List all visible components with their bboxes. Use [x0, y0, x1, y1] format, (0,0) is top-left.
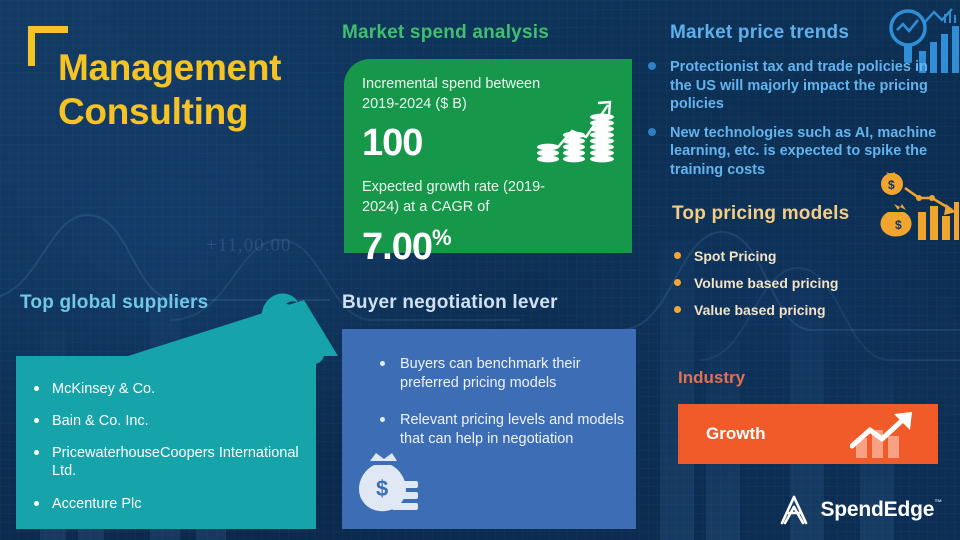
bullet-dot: [674, 252, 681, 259]
suppliers-panel: McKinsey & Co. Bain & Co. Inc. Pricewate…: [16, 356, 316, 529]
supplier-name: Bain & Co. Inc.: [52, 413, 149, 429]
supplier-name: PricewaterhouseCoopers International Ltd…: [52, 445, 299, 479]
cagr-value: 7.00: [362, 226, 432, 268]
bullet-dot: [34, 386, 39, 391]
svg-text:$: $: [895, 218, 902, 232]
list-item: Relevant pricing levels and models that …: [342, 411, 636, 449]
negotiation-panel: Buyers can benchmark their preferred pri…: [342, 329, 636, 529]
bullet-dot: [380, 417, 385, 422]
negotiation-heading: Buyer negotiation lever: [342, 292, 558, 314]
bullet-dot: [34, 501, 39, 506]
infographic-canvas: +11,00.00 Management Consulting Market s…: [0, 0, 960, 540]
money-bag-icon: $: [352, 451, 424, 523]
bullet-dot: [380, 361, 385, 366]
logo-trademark: ™: [934, 498, 942, 507]
spendedge-chevron-icon: [777, 494, 811, 526]
negotiation-text: Relevant pricing levels and models that …: [400, 412, 624, 447]
list-item: Value based pricing: [672, 302, 932, 318]
list-item: Volume based pricing: [672, 275, 932, 291]
page-title-line-2: Consulting: [58, 90, 358, 134]
svg-text:$: $: [376, 476, 388, 501]
industry-status-badge: Growth: [678, 404, 938, 464]
suppliers-list: McKinsey & Co. Bain & Co. Inc. Pricewate…: [16, 356, 316, 513]
bullet-dot: [674, 279, 681, 286]
list-item: PricewaterhouseCoopers International Ltd…: [16, 444, 316, 480]
bullet-dot: [648, 128, 656, 136]
bullet-dot: [648, 62, 656, 70]
logo-name: SpendEdge: [820, 498, 934, 521]
cagr-label: Expected growth rate (2019-2024) at a CA…: [362, 178, 582, 217]
bullet-dot: [34, 450, 39, 455]
logo-text: SpendEdge™: [820, 498, 942, 522]
list-item: Bain & Co. Inc.: [16, 412, 316, 430]
spendedge-logo: SpendEdge™: [777, 494, 942, 526]
list-item: McKinsey & Co.: [16, 380, 316, 398]
page-title-line-1: Management: [58, 46, 358, 90]
negotiation-list: Buyers can benchmark their preferred pri…: [342, 329, 636, 448]
price-trends-heading: Market price trends: [670, 22, 849, 44]
market-spend-card: Incremental spend between 2019-2024 ($ B…: [344, 59, 632, 253]
list-item: Buyers can benchmark their preferred pri…: [342, 355, 636, 393]
supplier-name: McKinsey & Co.: [52, 381, 155, 397]
money-bag-declining-chart-icon: $$: [874, 168, 960, 246]
cagr-percent-symbol: %: [432, 225, 451, 250]
background-ticker-text: +11,00.00: [206, 235, 292, 257]
coins-growth-icon: [534, 87, 618, 163]
pricing-models-list: Spot Pricing Volume based pricing Value …: [672, 248, 932, 329]
page-title: Management Consulting: [58, 46, 358, 133]
industry-status-label: Growth: [706, 424, 766, 444]
bullet-dot: [674, 306, 681, 313]
pricing-model-text: Spot Pricing: [694, 248, 776, 264]
cagr-value-wrap: 7.00%: [362, 227, 614, 266]
list-item: Protectionist tax and trade policies in …: [648, 58, 948, 114]
list-item: Accenture Plc: [16, 495, 316, 513]
pricing-model-text: Volume based pricing: [694, 275, 838, 291]
list-item: Spot Pricing: [672, 248, 932, 264]
price-trend-text: Protectionist tax and trade policies in …: [670, 59, 928, 112]
incremental-spend-label: Incremental spend between 2019-2024 ($ B…: [362, 75, 552, 114]
supplier-name: Accenture Plc: [52, 496, 141, 512]
industry-heading: Industry: [678, 368, 745, 388]
svg-text:$: $: [888, 178, 895, 192]
growth-arrow-icon: [850, 410, 924, 460]
bullet-dot: [34, 418, 39, 423]
pricing-models-heading: Top pricing models: [672, 203, 849, 225]
pricing-model-text: Value based pricing: [694, 302, 826, 318]
market-spend-heading: Market spend analysis: [342, 22, 549, 44]
negotiation-text: Buyers can benchmark their preferred pri…: [400, 356, 581, 391]
